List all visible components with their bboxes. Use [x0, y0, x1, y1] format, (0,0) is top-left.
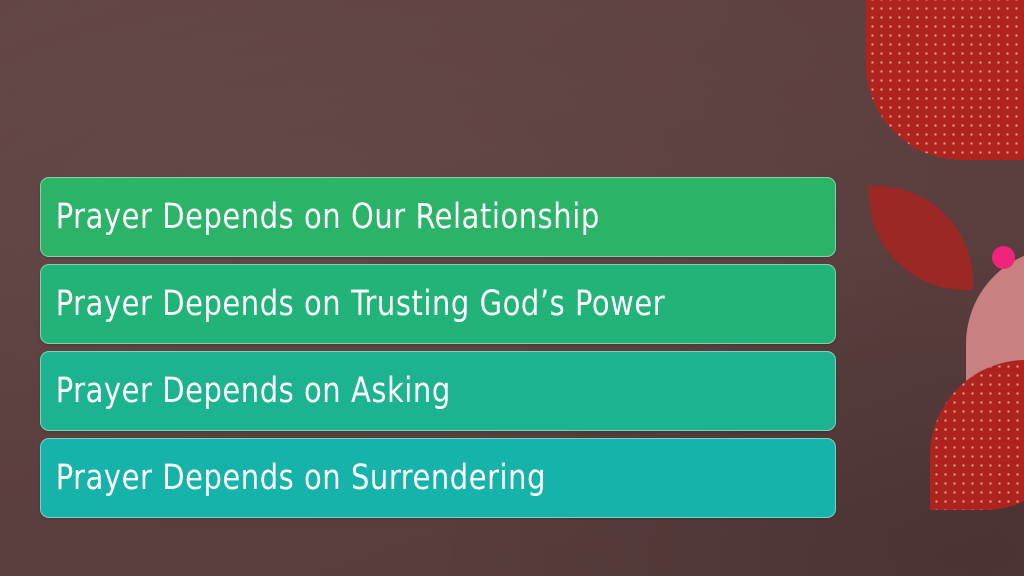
solid-leaf-middle-right-icon — [869, 186, 973, 290]
bullet-bar[interactable]: Prayer Depends on Trusting God’s Power — [40, 264, 836, 344]
bullet-bar[interactable]: Prayer Depends on Surrendering — [40, 438, 836, 518]
slide-canvas: Prayer Depends on Our Relationship Praye… — [0, 0, 1024, 576]
bullet-bar-list: Prayer Depends on Our Relationship Praye… — [40, 177, 836, 518]
bullet-bar-label: Prayer Depends on Surrendering — [41, 461, 546, 496]
bullet-bar[interactable]: Prayer Depends on Our Relationship — [40, 177, 836, 257]
dot-pattern-overlay — [930, 360, 1024, 510]
bullet-bar-label: Prayer Depends on Our Relationship — [41, 200, 600, 235]
bullet-bar[interactable]: Prayer Depends on Asking — [40, 351, 836, 431]
bullet-bar-label: Prayer Depends on Trusting God’s Power — [41, 287, 665, 322]
dotted-leaf-top-right-icon — [866, 0, 1024, 160]
magenta-dot-icon — [992, 246, 1015, 269]
dotted-leaf-bottom-right-icon — [930, 360, 1024, 510]
pink-petal-right-icon — [966, 248, 1024, 396]
dot-pattern-overlay — [866, 0, 1024, 160]
bullet-bar-label: Prayer Depends on Asking — [41, 374, 451, 409]
